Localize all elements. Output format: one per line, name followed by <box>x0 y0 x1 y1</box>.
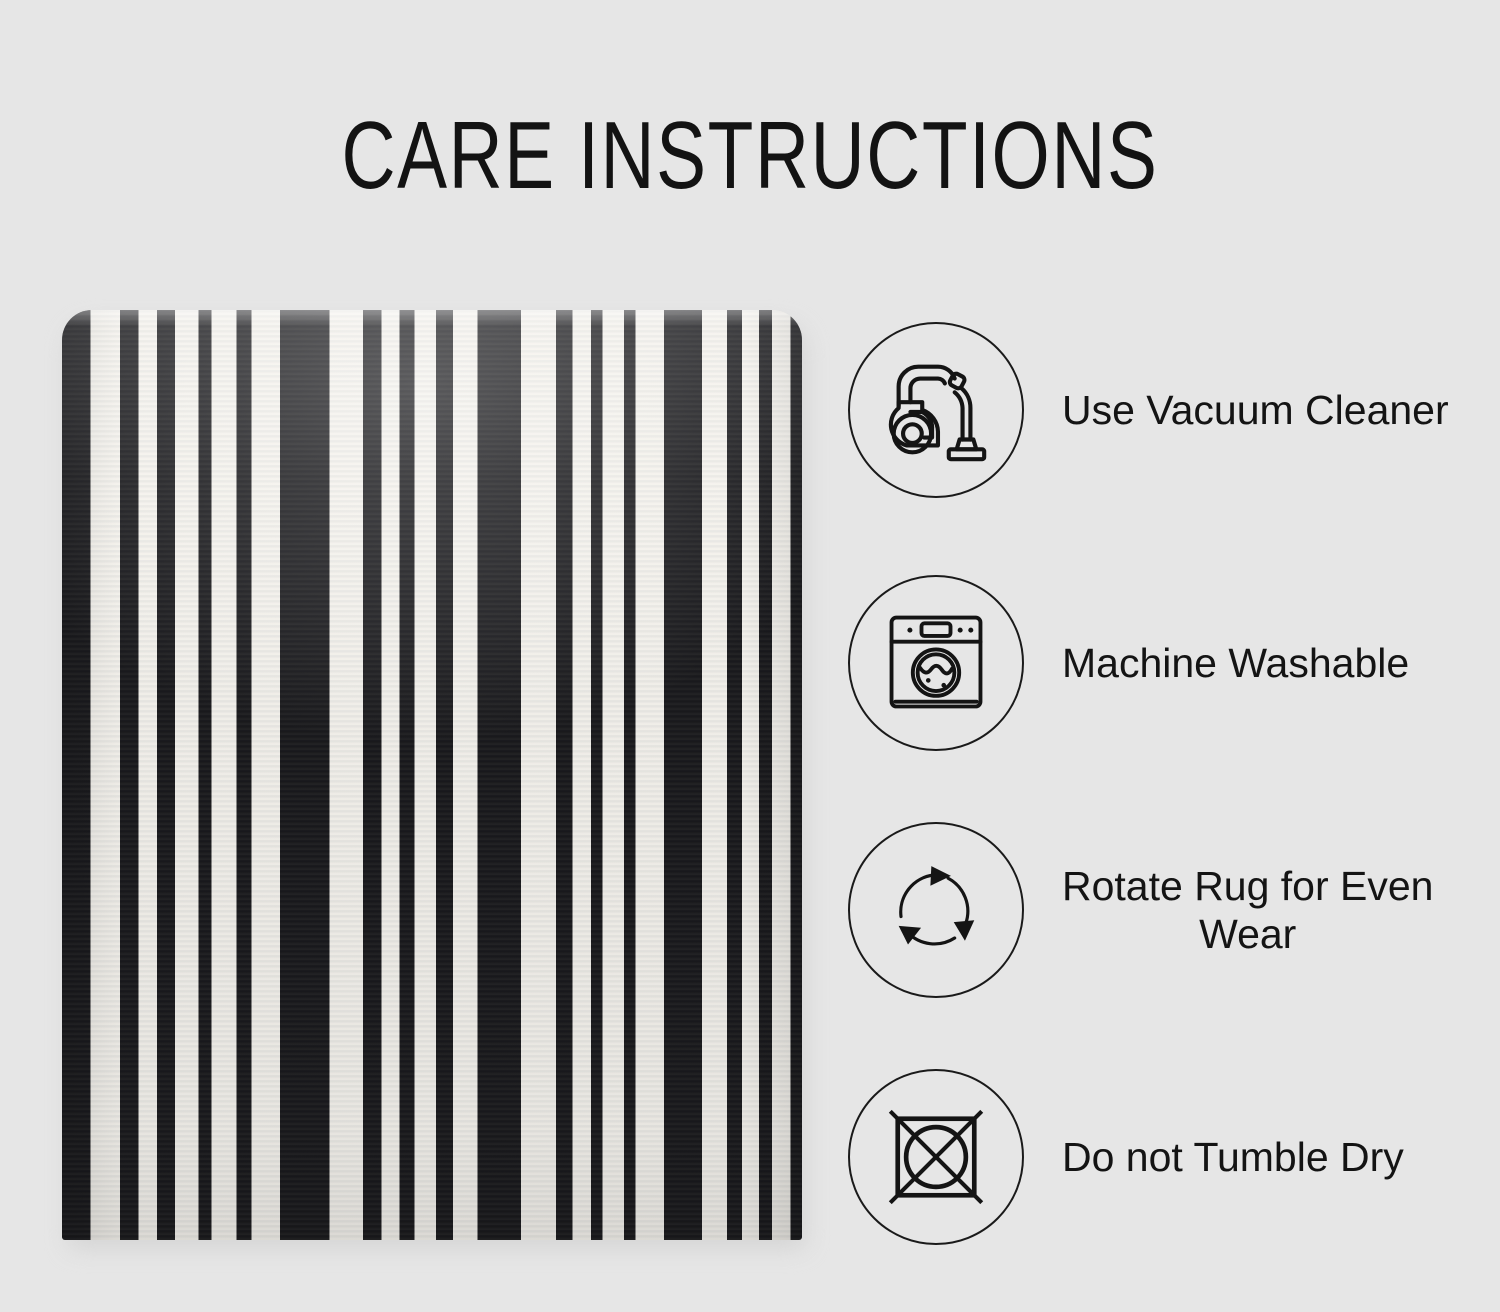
instruction-label-rotate-line2: Wear <box>1062 910 1433 958</box>
arrowhead-top <box>930 866 951 886</box>
icon-badge-rotate <box>848 822 1024 998</box>
instruction-label-vacuum: Use Vacuum Cleaner <box>1062 386 1449 434</box>
icon-badge-vacuum <box>848 322 1024 498</box>
instruction-row-vacuum: Use Vacuum Cleaner <box>848 320 1488 500</box>
product-image <box>62 310 804 1245</box>
rotate-arrows-icon <box>880 854 992 966</box>
icon-badge-no-tumble-dry <box>848 1069 1024 1245</box>
instruction-row-no-tumble-dry: Do not Tumble Dry <box>848 1067 1488 1247</box>
instruction-row-machine-wash: Machine Washable <box>848 573 1488 753</box>
striped-rug <box>62 310 802 1240</box>
washing-machine-icon <box>878 605 994 721</box>
instruction-label-rotate-line1: Rotate Rug for Even <box>1062 862 1433 910</box>
vacuum-cleaner-icon <box>877 351 995 469</box>
do-not-tumble-dry-icon <box>880 1101 992 1213</box>
rug-weave-texture-secondary <box>62 310 802 1240</box>
page-title: CARE INSTRUCTIONS <box>165 108 1335 204</box>
instruction-label-no-tumble-dry: Do not Tumble Dry <box>1062 1133 1404 1181</box>
arrowhead-right <box>954 920 975 941</box>
instruction-label-machine-wash: Machine Washable <box>1062 639 1409 687</box>
care-instructions-infographic: CARE INSTRUCTIONS <box>0 0 1500 1312</box>
instruction-row-rotate: Rotate Rug for Even Wear <box>848 820 1488 1000</box>
icon-badge-machine-wash <box>848 575 1024 751</box>
instruction-label-rotate: Rotate Rug for Even Wear <box>1062 862 1433 959</box>
